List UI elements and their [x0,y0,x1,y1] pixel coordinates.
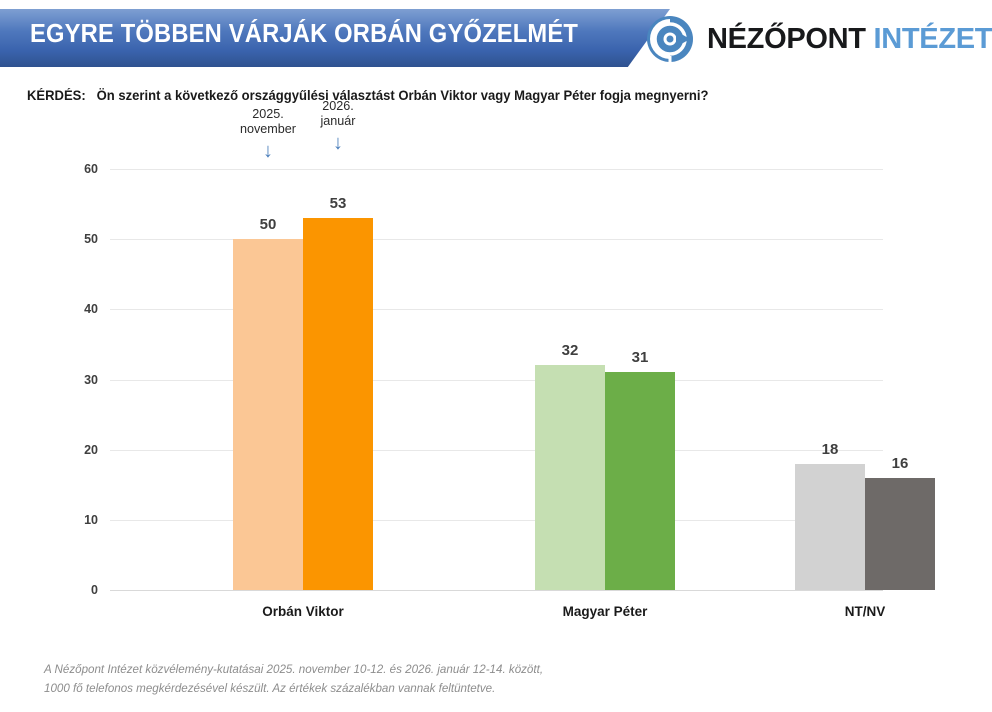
gridline [110,169,883,170]
bar[interactable]: 32 [535,365,605,590]
gridline [110,380,883,381]
footnote-line-2: 1000 fő telefonos megkérdezésével készül… [44,679,543,698]
period-annotation-month: november [240,122,296,137]
down-arrow-icon: ↓ [240,141,296,161]
plot-area: 0102030405060502025.november↓532026.janu… [110,169,883,590]
question-label: KÉRDÉS: [27,88,86,103]
bar-value-label: 32 [562,342,579,359]
brand-logo: NÉZŐPONT INTÉZET [645,14,992,64]
methodology-footnote: A Nézőpont Intézet közvélemény-kutatásai… [44,660,543,698]
bar-value-label: 18 [822,441,839,458]
bar-value-label: 16 [892,455,909,472]
y-axis-tick-label: 0 [91,583,98,597]
page-header: EGYRE TÖBBEN VÁRJÁK ORBÁN GYŐZELMÉT NÉZŐ… [0,0,992,78]
period-annotation-year: 2026. [320,99,355,114]
y-axis-tick-label: 40 [84,302,98,316]
bar-value-label: 53 [330,195,347,212]
y-axis-tick-label: 50 [84,232,98,246]
down-arrow-icon: ↓ [320,133,355,153]
y-axis-tick-label: 20 [84,443,98,457]
bar[interactable]: 31 [605,372,675,590]
question-text: Ön szerint a következő országgyűlési vál… [97,88,709,103]
bar[interactable]: 18 [795,464,865,590]
period-annotation: 2026.január↓ [320,99,355,153]
category-label: NT/NV [845,604,886,619]
bar-value-label: 50 [260,216,277,233]
bar[interactable]: 50 [233,239,303,590]
gridline [110,590,883,591]
gridline [110,520,883,521]
bar[interactable]: 53 [303,218,373,590]
poll-chart-page: EGYRE TÖBBEN VÁRJÁK ORBÁN GYŐZELMÉT NÉZŐ… [0,0,992,712]
bar[interactable]: 16 [865,478,935,590]
y-axis-tick-label: 30 [84,373,98,387]
gridline [110,239,883,240]
brand-word-nezopont: NÉZŐPONT [707,23,866,55]
category-label: Orbán Viktor [262,604,344,619]
bar-value-label: 31 [632,349,649,366]
category-label: Magyar Péter [563,604,648,619]
bar-chart: 0102030405060502025.november↓532026.janu… [0,120,992,640]
period-annotation: 2025.november↓ [240,107,296,161]
page-title: EGYRE TÖBBEN VÁRJÁK ORBÁN GYŐZELMÉT [30,20,588,49]
brand-logo-text: NÉZŐPONT INTÉZET [707,23,992,56]
gridline [110,309,883,310]
survey-question: KÉRDÉS: Ön szerint a következő országgyű… [27,88,709,103]
footnote-line-1: A Nézőpont Intézet közvélemény-kutatásai… [44,660,543,679]
period-annotation-month: január [320,114,355,129]
brand-word-intezet: INTÉZET [873,23,992,55]
nezopont-circle-logo-icon [645,14,695,64]
gridline [110,450,883,451]
period-annotation-year: 2025. [240,107,296,122]
y-axis-tick-label: 10 [84,513,98,527]
y-axis-tick-label: 60 [84,162,98,176]
